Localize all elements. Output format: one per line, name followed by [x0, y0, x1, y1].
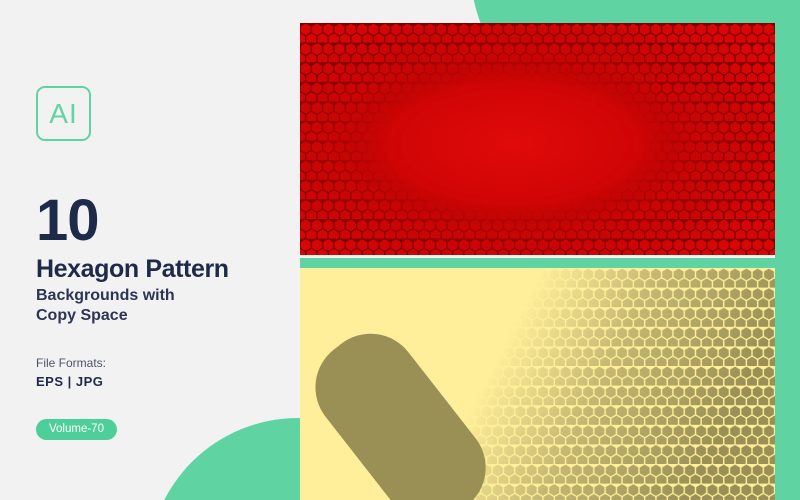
- pack-count: 10: [36, 193, 286, 248]
- page-subtitle-line-2: Copy Space: [36, 306, 286, 326]
- file-formats-value: EPS | JPG: [36, 374, 286, 389]
- red-halftone-pattern: [300, 23, 775, 255]
- page-title: Hexagon Pattern: [36, 256, 286, 283]
- yellow-halftone-pattern: [300, 268, 775, 500]
- ai-badge-label: AI: [49, 98, 77, 130]
- poster-canvas: AI 10 Hexagon Pattern Backgrounds with C…: [0, 0, 800, 500]
- preview-red-hexagon-halftone[interactable]: [300, 23, 775, 255]
- file-formats-label: File Formats:: [36, 356, 286, 370]
- info-column: AI 10 Hexagon Pattern Backgrounds with C…: [36, 86, 286, 440]
- page-subtitle: Backgrounds with Copy Space: [36, 286, 286, 326]
- green-strip-middle-decoration: [300, 258, 775, 268]
- adobe-illustrator-icon: AI: [36, 86, 91, 141]
- green-strip-right-decoration: [775, 0, 800, 500]
- preview-yellow-hexagon-halftone[interactable]: [300, 268, 775, 500]
- volume-badge: Volume-70: [36, 419, 117, 440]
- page-subtitle-line-1: Backgrounds with: [36, 286, 286, 306]
